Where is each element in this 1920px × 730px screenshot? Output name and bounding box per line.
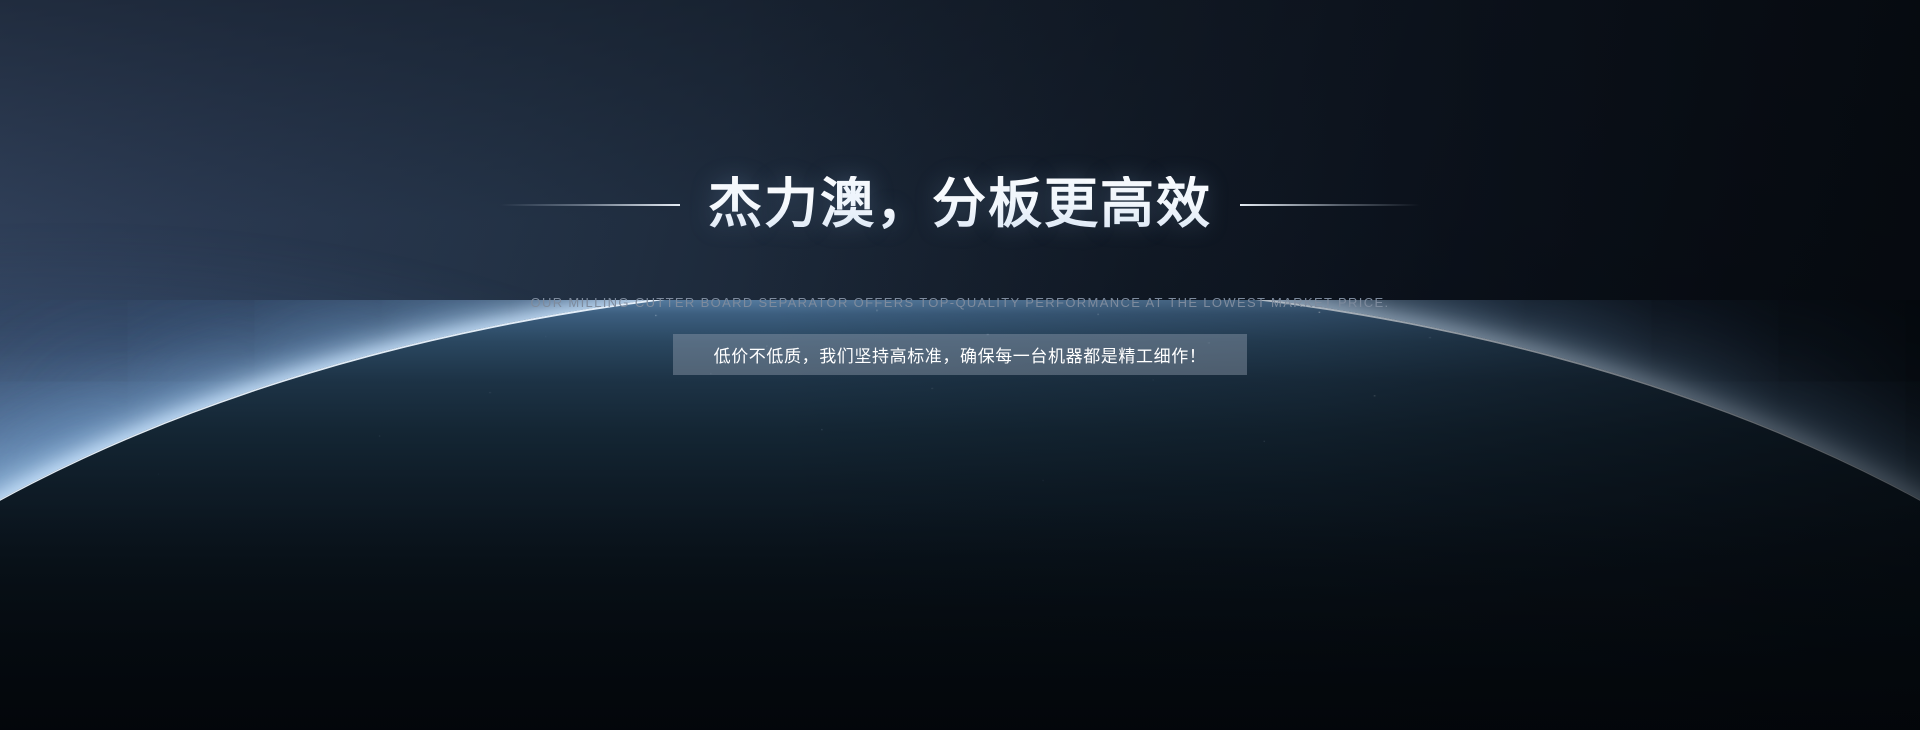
page-title: 杰力澳，分板更高效 — [708, 176, 1212, 233]
banner-subtitle: OUR MILLING CUTTER BOARD SEPARATOR OFFER… — [0, 295, 1920, 310]
slogan-wrap: 低价不低质，我们坚持高标准，确保每一台机器都是精工细作！ — [0, 334, 1920, 375]
banner-content: 杰力澳，分板更高效 OUR MILLING CUTTER BOARD SEPAR… — [0, 0, 1920, 375]
slogan-bar: 低价不低质，我们坚持高标准，确保每一台机器都是精工细作！ — [673, 334, 1247, 375]
rule-left-icon — [500, 204, 680, 206]
rule-right-icon — [1240, 204, 1420, 206]
hero-banner: INNOVATION 杰力澳，分板更高效 OUR MILLING CUTTER … — [0, 0, 1920, 730]
headline-row: 杰力澳，分板更高效 — [0, 140, 1920, 269]
bottom-vignette — [0, 500, 1920, 730]
